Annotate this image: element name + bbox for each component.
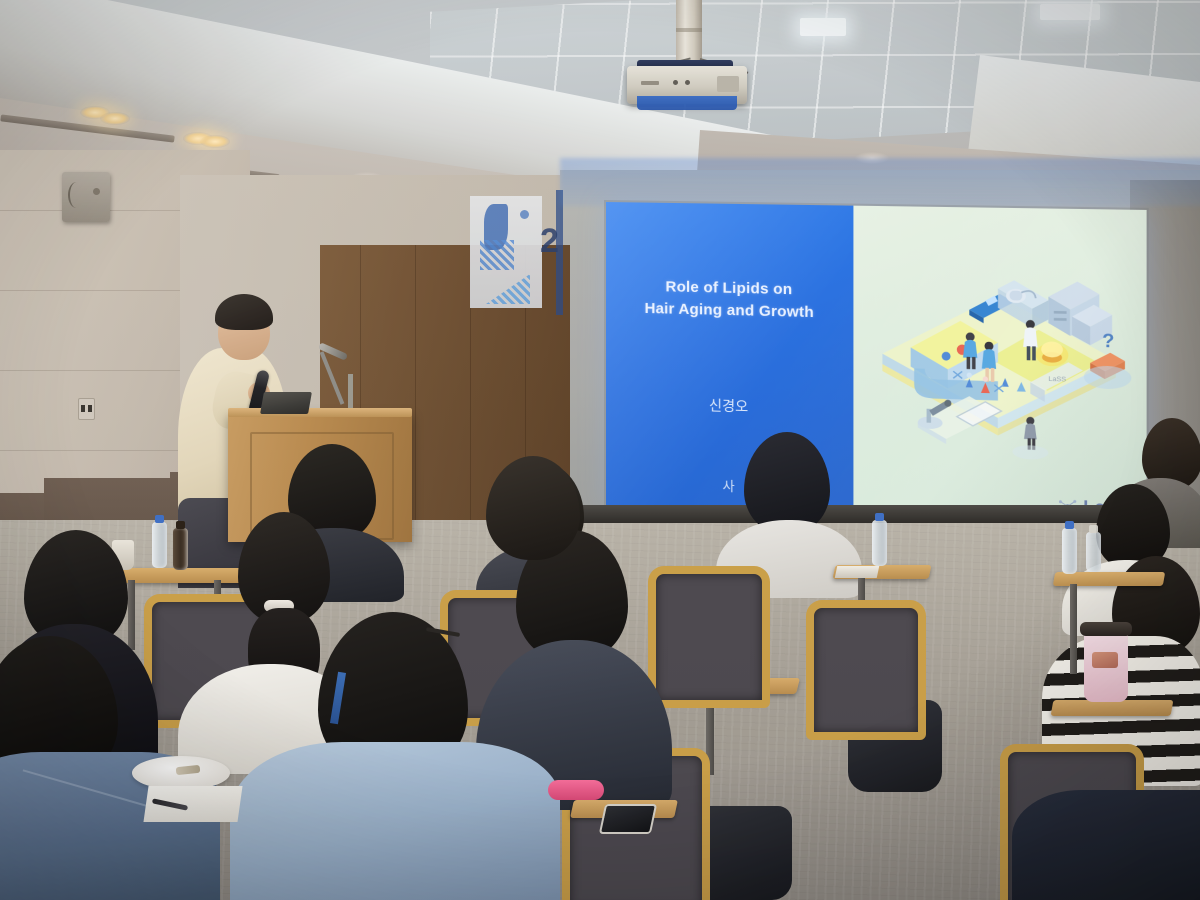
notebook [835, 566, 880, 578]
projector-lens [717, 76, 739, 92]
gooseneck-microphone-base [348, 374, 353, 408]
pink-item [548, 780, 604, 800]
wall-speaker-icon [62, 172, 110, 222]
water-bottle [872, 520, 887, 566]
desk-leg [1070, 584, 1077, 674]
desk-leg [128, 580, 135, 650]
wall-outlet [78, 398, 95, 420]
screen-frame [604, 200, 1149, 533]
projector-light-spill [560, 158, 1200, 206]
water-bottle [173, 528, 188, 570]
podium-top-edge [228, 408, 412, 417]
audience-light-blue-shirt [230, 742, 560, 900]
projection-screen: Role of Lipids on Hair Aging and Growth … [606, 202, 1147, 530]
podium-laptop [260, 392, 312, 414]
banquet-chair [806, 600, 926, 740]
audience-dark-shirt [1012, 790, 1200, 900]
projector-indicator [673, 80, 678, 85]
projector-beam-glow [637, 96, 737, 110]
conference-room-photo: 2 Role of Lipids on Hair Aging and Growt… [0, 0, 1200, 900]
water-bottle [1086, 532, 1101, 572]
ceiling-downlight [100, 112, 130, 125]
ceiling-panel-light [800, 18, 846, 36]
ceiling-downlight [200, 135, 230, 148]
tumbler-label [1092, 652, 1118, 668]
ceiling-panel-light [1040, 4, 1100, 20]
banquet-chair [648, 566, 770, 708]
projector-indicator [685, 80, 690, 85]
wall-banner [470, 196, 542, 308]
water-bottle [152, 522, 167, 568]
smartphone [599, 804, 657, 834]
water-bottle [1062, 528, 1077, 574]
projector-label [641, 81, 659, 85]
tablet-desk [1051, 700, 1174, 716]
banner-number: 2 [540, 222, 559, 261]
pink-tumbler-lid [1080, 622, 1132, 636]
